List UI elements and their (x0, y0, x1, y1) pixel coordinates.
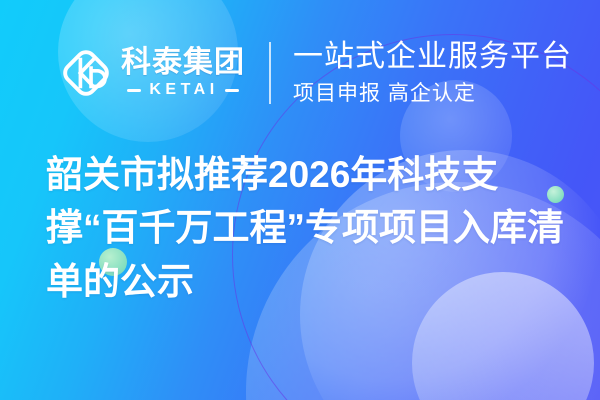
banner-header: 科泰集团 KETAI 一站式企业服务平台 项目申报 高企认定 (0, 28, 600, 118)
brand-name-cn: 科泰集团 (121, 48, 245, 78)
slogan-main: 一站式企业服务平台 (293, 40, 572, 74)
wordmark-rule-right-icon (225, 89, 239, 92)
slogan-sub: 项目申报 高企认定 (293, 81, 572, 106)
page-title: 韶关市拟推荐2026年科技支撑“百千万工程”专项项目入库清单的公示 (46, 148, 566, 308)
promo-banner: 科泰集团 KETAI 一站式企业服务平台 项目申报 高企认定 韶关市拟推荐202… (0, 0, 600, 400)
ketai-diamond-kd-logo-icon (58, 45, 114, 101)
brand-name-en-row: KETAI (121, 82, 245, 98)
header-divider (269, 42, 271, 104)
brand-logo: 科泰集团 KETAI (58, 45, 245, 101)
wordmark-rule-left-icon (127, 89, 141, 92)
brand-name-en: KETAI (149, 82, 218, 98)
slogan-block: 一站式企业服务平台 项目申报 高企认定 (293, 40, 572, 105)
brand-wordmark: 科泰集团 KETAI (121, 48, 245, 98)
